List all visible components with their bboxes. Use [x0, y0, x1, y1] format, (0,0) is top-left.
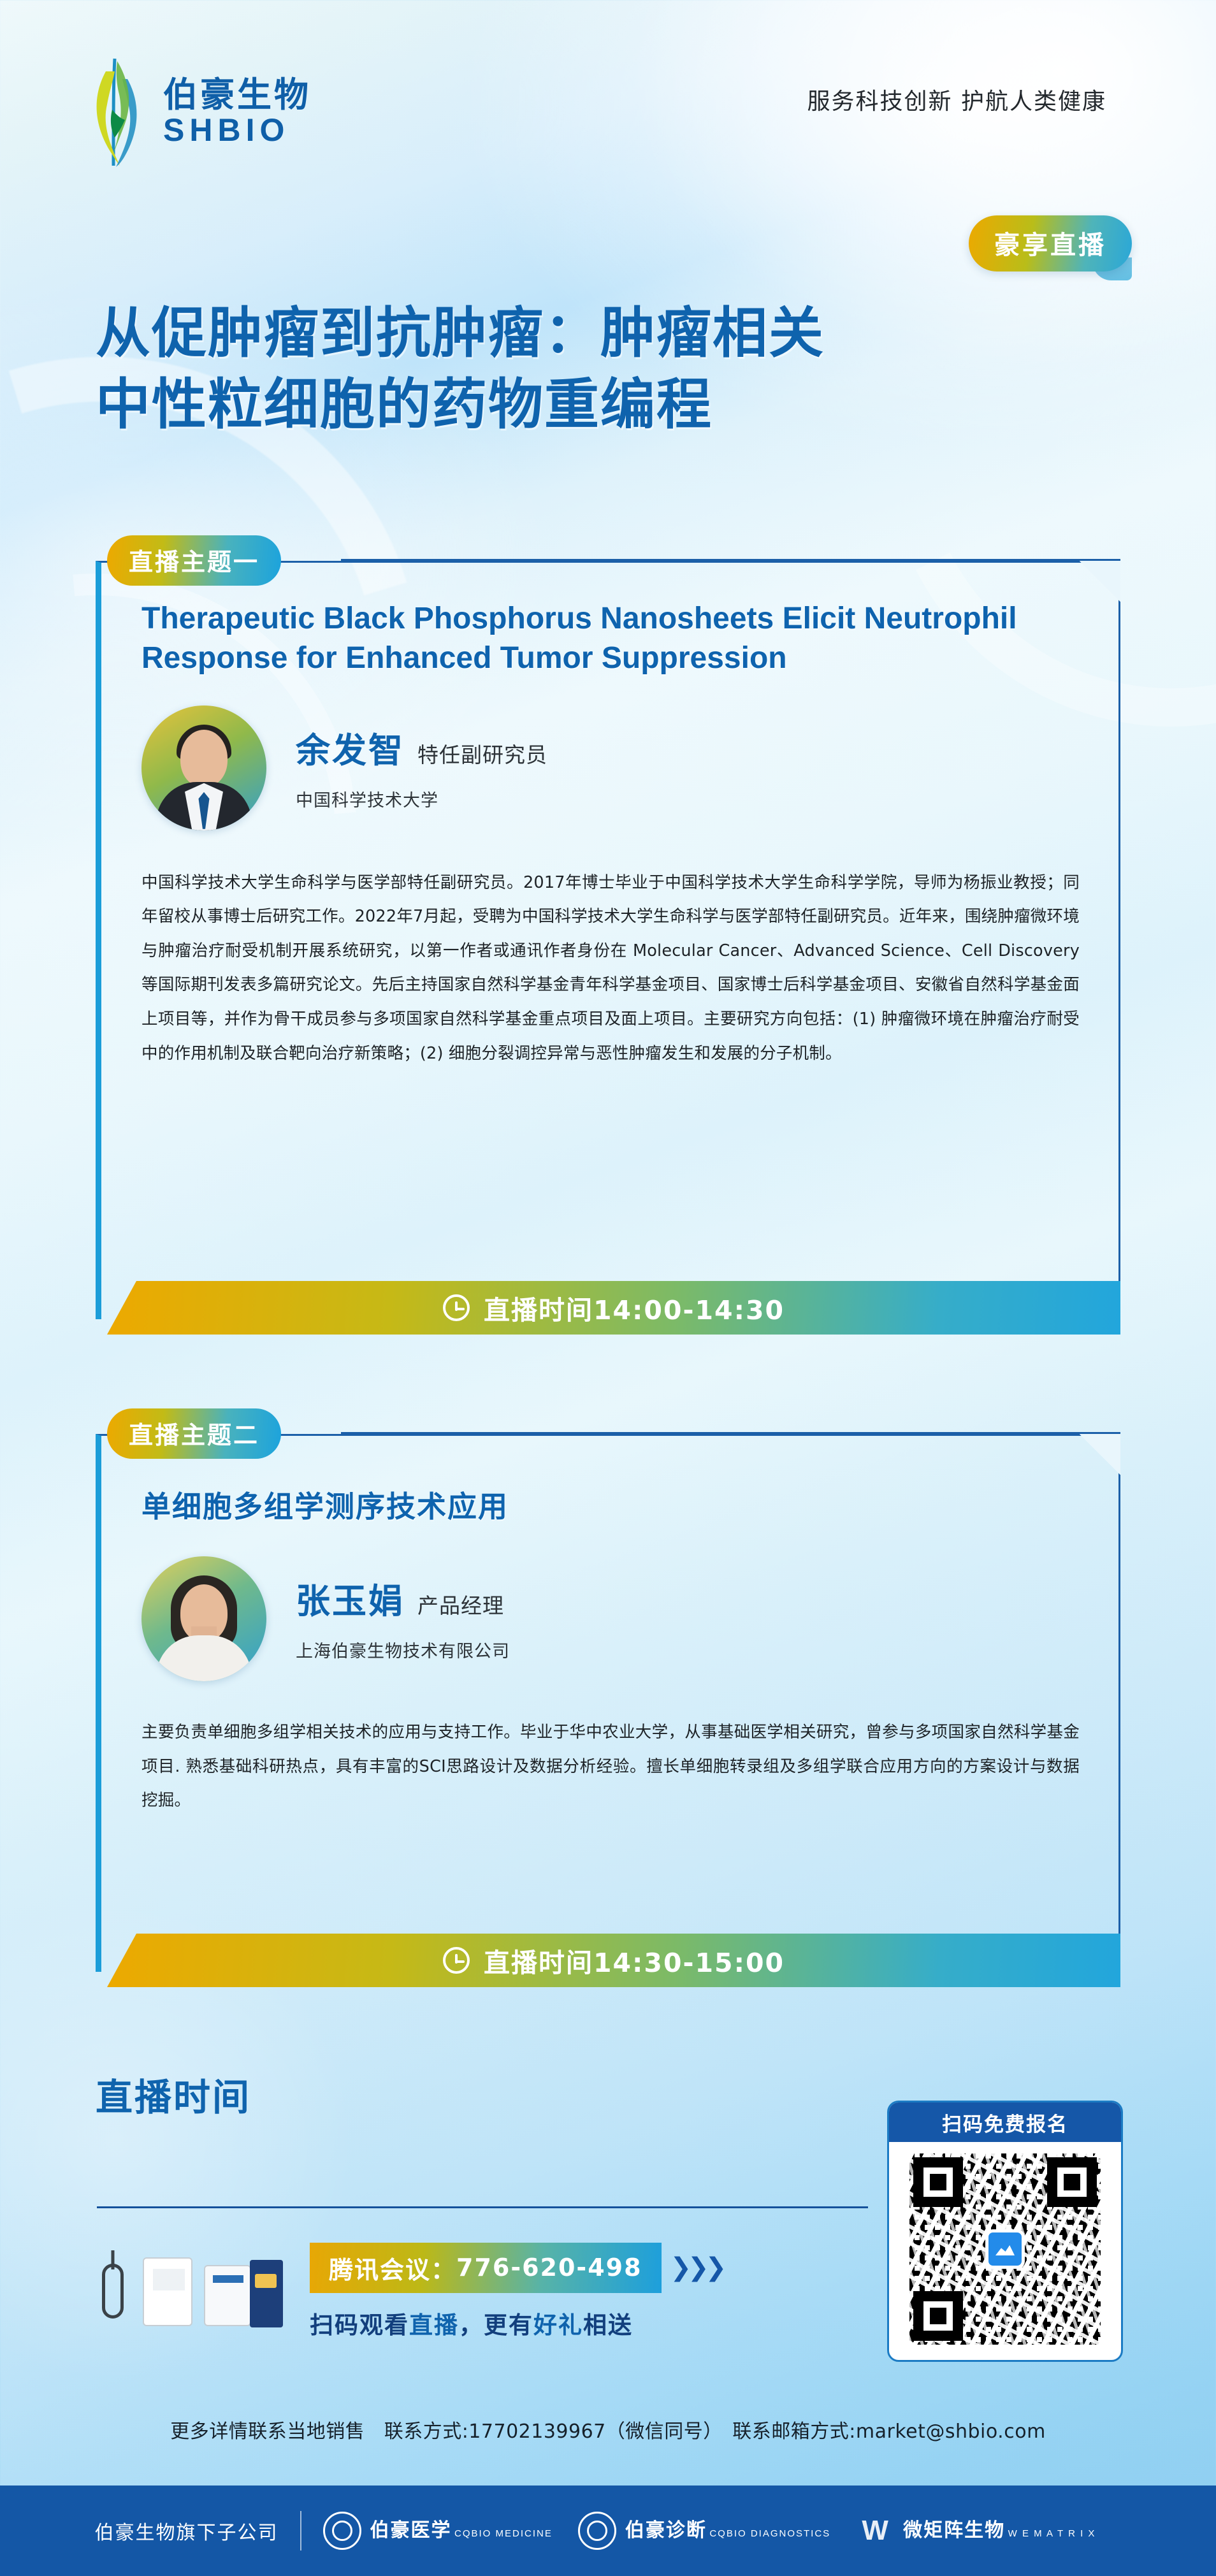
footer-label: 伯豪生物旗下子公司 [95, 2517, 300, 2545]
avatar-top [156, 1635, 252, 1681]
footer-brand-en: CQBIO MEDICINE [454, 2528, 553, 2539]
speaker-1-bio: 中国科学技术大学生命科学与医学部特任副研究员。2017年博士毕业于中国科学技术大… [141, 866, 1080, 1071]
meeting-sub-bold1: 直播 [409, 2312, 459, 2339]
cqbio-medicine-icon [323, 2512, 361, 2550]
bottom-divider [97, 2206, 868, 2208]
meeting-sub-mid: ，更有 [459, 2312, 533, 2339]
speaker-1-org: 中国科学技术大学 [296, 786, 547, 811]
topic-1-body: Therapeutic Black Phosphorus Nanosheets … [96, 524, 1120, 1071]
topic-2-time-text: 直播时间14:30-15:00 [484, 1941, 785, 1979]
footer-brand-wematrix[interactable]: 微矩阵生物 W E M A T R I X [856, 2512, 1096, 2550]
speaker-1-avatar [141, 706, 266, 830]
chevrons-icon: ❯❯❯ [670, 2253, 723, 2282]
meeting-sub-prefix: 扫码观看 [310, 2312, 409, 2339]
brand-logo: 伯豪生物 SHBIO [88, 57, 311, 167]
qr-finder-top-right [1047, 2157, 1097, 2207]
live-badge: 豪享直播 [969, 215, 1132, 271]
topic-1-time-banner: 直播时间14:00-14:30 [107, 1281, 1120, 1335]
topic-2-time-banner: 直播时间14:30-15:00 [107, 1934, 1120, 1987]
qr-logo-icon [985, 2229, 1025, 2269]
topic-1-speaker: 余发智 特任副研究员 中国科学技术大学 [141, 706, 1080, 830]
topic-2-rule [341, 1432, 1120, 1434]
page-title-line2: 中性粒细胞的药物重编程 [96, 370, 1141, 441]
notebook-icon [143, 2257, 192, 2326]
footer-brand-en: W E M A T R I X [1008, 2528, 1096, 2539]
topic-card-2: 直播主题二 单细胞多组学测序技术应用 张玉娟 产品经理 上海伯豪生物技术有限公司… [96, 1397, 1120, 1818]
meeting-row: 腾讯会议： 776-620-498 ❯❯❯ 扫码观看直播，更有好礼相送 [97, 2231, 874, 2352]
qr-card-heading: 扫码免费报名 [889, 2102, 1121, 2142]
speaker-2-name: 张玉娟 [296, 1573, 405, 1623]
footer-divider [300, 2511, 301, 2551]
qr-code-image[interactable] [909, 2153, 1101, 2345]
footer-brand-cn: 微矩阵生物 [903, 2519, 1005, 2542]
topic-2-body: 单细胞多组学测序技术应用 张玉娟 产品经理 上海伯豪生物技术有限公司 主要负责单… [96, 1397, 1120, 1818]
brand-name-cn: 伯豪生物 [163, 76, 311, 113]
footer-brand-cn: 伯豪医学 [370, 2519, 452, 2542]
page-title: 从促肿瘤到抗肿瘤：肿瘤相关 中性粒细胞的药物重编程 [96, 298, 1141, 441]
topic-1-rule [341, 559, 1120, 561]
meeting-info[interactable]: 腾讯会议： 776-620-498 [310, 2243, 662, 2293]
speaker-1-role: 特任副研究员 [417, 738, 547, 769]
booklet-icon [250, 2260, 283, 2327]
wematrix-icon [856, 2512, 894, 2550]
meeting-sub-bold2: 好礼 [533, 2312, 583, 2339]
qr-finder-bottom-left [913, 2291, 963, 2341]
speaker-2-bio: 主要负责单细胞多组学相关技术的应用与支持工作。毕业于华中农业大学，从事基础医学相… [141, 1716, 1080, 1818]
page-title-line1: 从促肿瘤到抗肿瘤：肿瘤相关 [96, 298, 1141, 370]
footer-brand-en: CQBIO DIAGNOSTICS [709, 2528, 830, 2539]
clock-icon [443, 1947, 470, 1974]
dna-helix-logo-icon [88, 57, 149, 167]
footer-brand-diagnostics[interactable]: 伯豪诊断 CQBIO DIAGNOSTICS [578, 2512, 830, 2550]
topic-card-1: 直播主题一 Therapeutic Black Phosphorus Nanos… [96, 524, 1120, 1071]
card-icon [204, 2265, 251, 2326]
contact-info: 更多详情联系当地销售 联系方式:17702139967（微信同号） 联系邮箱方式… [0, 2415, 1216, 2443]
footer-brand-cn: 伯豪诊断 [625, 2519, 707, 2542]
brand-name-en: SHBIO [163, 113, 311, 148]
page-header: 伯豪生物 SHBIO 服务科技创新 护航人类健康 [0, 38, 1216, 185]
speaker-1-name: 余发智 [296, 722, 405, 772]
brand-tagline: 服务科技创新 护航人类健康 [807, 83, 1106, 116]
meeting-subtext: 扫码观看直播，更有好礼相送 [310, 2306, 874, 2340]
meeting-label: 腾讯会议： [329, 2250, 456, 2285]
topic-2-title: 单细胞多组学测序技术应用 [141, 1484, 1080, 1526]
speaker-2-org: 上海伯豪生物技术有限公司 [296, 1637, 510, 1662]
topic-1-pill: 直播主题一 [107, 535, 281, 586]
speaker-2-avatar [141, 1556, 266, 1681]
keychain-icon [102, 2264, 124, 2319]
bottom-heading: 直播时间 [96, 2067, 251, 2121]
speaker-2-role: 产品经理 [417, 1589, 504, 1619]
meeting-id: 776-620-498 [456, 2254, 642, 2282]
avatar-head [180, 730, 228, 787]
cqbio-diagnostics-icon [578, 2512, 616, 2550]
topic-2-pill: 直播主题二 [107, 1408, 281, 1459]
qr-finder-top-left [913, 2157, 963, 2207]
gift-items-image [97, 2243, 288, 2339]
footer-brand-medicine[interactable]: 伯豪医学 CQBIO MEDICINE [323, 2512, 553, 2550]
clock-icon [443, 1294, 470, 1321]
topic-1-title: Therapeutic Black Phosphorus Nanosheets … [141, 599, 1080, 679]
topic-2-speaker: 张玉娟 产品经理 上海伯豪生物技术有限公司 [141, 1556, 1080, 1681]
qr-registration-card[interactable]: 扫码免费报名 [887, 2101, 1123, 2362]
page-footer: 伯豪生物旗下子公司 伯豪医学 CQBIO MEDICINE 伯豪诊断 CQBIO… [0, 2486, 1216, 2576]
topic-1-time-text: 直播时间14:00-14:30 [484, 1289, 785, 1327]
meeting-sub-suffix: 相送 [583, 2312, 633, 2339]
